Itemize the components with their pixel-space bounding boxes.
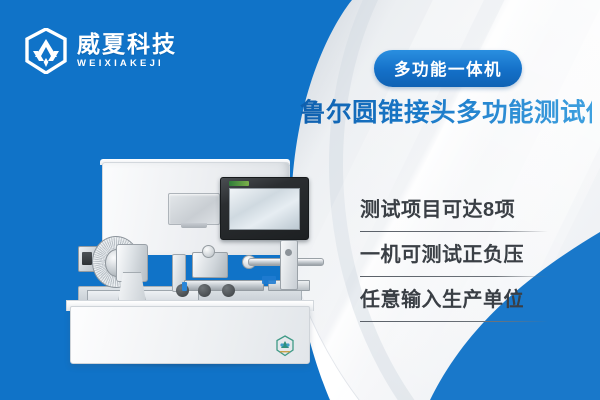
brand-logo-text: 威夏科技 WEIXIAKEJI	[77, 32, 177, 70]
feature-label: 一机可测试正负压	[360, 241, 550, 270]
product-image: ZZ1962-D 鲁尔圆锥接头多功能测试仪	[62, 158, 324, 374]
rotary-handwheel-icon[interactable]	[78, 236, 164, 300]
list-item: 一机可测试正负压	[360, 241, 550, 277]
certification-emblem-icon	[275, 335, 295, 357]
promo-banner: 威夏科技 WEIXIAKEJI 多功能一体机 鲁尔圆锥接头多功能测试仪 测试项目…	[0, 0, 600, 400]
machine-blue-accent	[262, 276, 276, 284]
list-item: 测试项目可达8项	[360, 196, 550, 232]
machine-blue-accent	[182, 282, 187, 291]
list-item: 任意输入生产单位	[360, 286, 550, 322]
machine-base: ZZ1962-D 鲁尔圆锥接头多功能测试仪	[70, 306, 310, 364]
hmi-touchscreen-icon[interactable]	[220, 177, 309, 240]
shield-hexagon-logo-icon	[24, 28, 68, 74]
hmi-brand-tag	[229, 181, 249, 186]
right-bracket	[280, 240, 298, 290]
machine-access-plate	[168, 193, 220, 225]
feature-label: 测试项目可达8项	[360, 196, 550, 225]
brand-name-en: WEIXIAKEJI	[77, 58, 177, 69]
page-title: 鲁尔圆锥接头多功能测试仪	[300, 92, 592, 129]
feature-divider	[360, 231, 548, 232]
hero-badge: 多功能一体机	[374, 50, 522, 87]
feature-list: 测试项目可达8项 一机可测试正负压 任意输入生产单位	[360, 196, 550, 331]
fixture-foot	[198, 284, 211, 297]
fixture-foot	[222, 284, 235, 297]
feature-divider	[360, 321, 548, 322]
fixture-knob[interactable]	[202, 245, 215, 258]
brand-name-cn: 威夏科技	[77, 32, 177, 56]
feature-label: 任意输入生产单位	[360, 286, 550, 315]
brand-logo[interactable]: 威夏科技 WEIXIAKEJI	[24, 28, 177, 74]
feature-divider	[360, 276, 548, 277]
hmi-display[interactable]	[229, 188, 300, 230]
